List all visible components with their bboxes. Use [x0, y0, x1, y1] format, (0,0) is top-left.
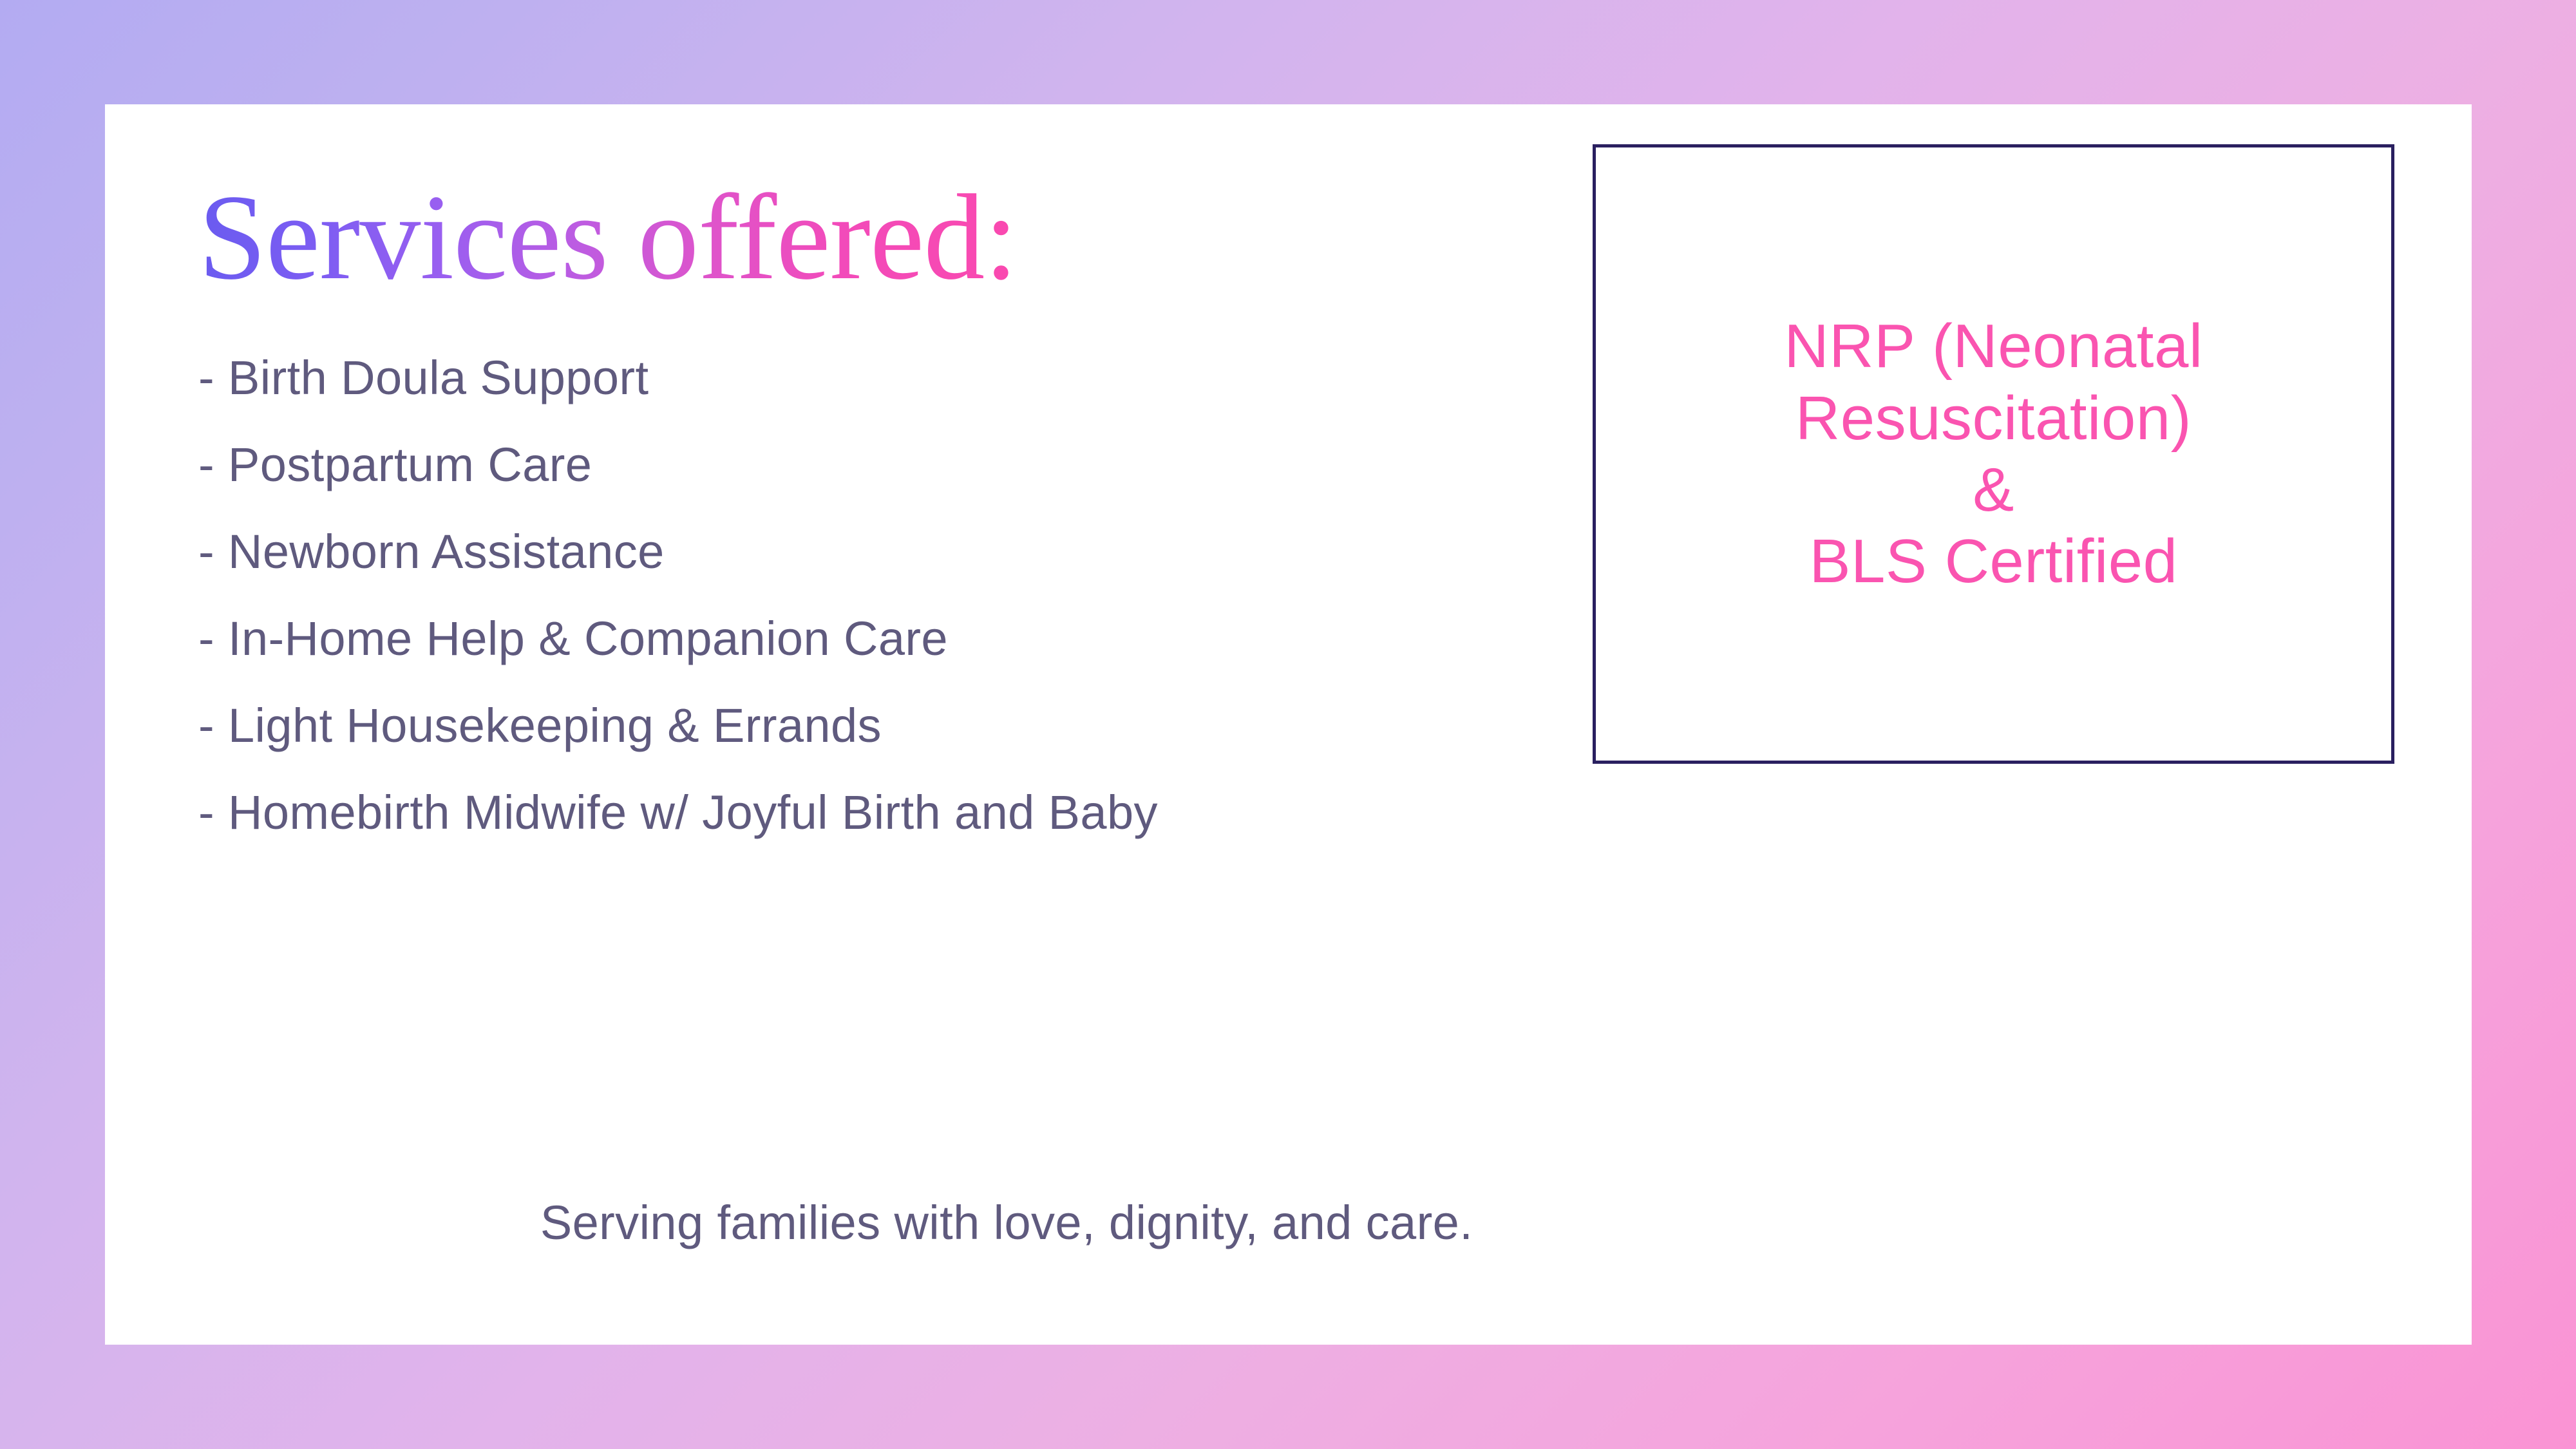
- list-item: - Newborn Assistance: [198, 528, 1158, 576]
- list-item: - In-Home Help & Companion Care: [198, 615, 1158, 663]
- list-item: - Homebirth Midwife w/ Joyful Birth and …: [198, 789, 1158, 837]
- list-item: - Light Housekeeping & Errands: [198, 702, 1158, 750]
- certification-line-bls: BLS Certified: [1809, 526, 2177, 597]
- certification-line-amp: &: [1973, 454, 2014, 526]
- services-list: - Birth Doula Support - Postpartum Care …: [198, 354, 1158, 876]
- tagline: Serving families with love, dignity, and…: [105, 1199, 1908, 1247]
- page-title: Services offered:: [198, 176, 1018, 299]
- slide-canvas: Services offered: - Birth Doula Support …: [0, 0, 2576, 1449]
- certification-line-nrp: NRP (Neonatal Resuscitation): [1633, 310, 2354, 454]
- list-item: - Postpartum Care: [198, 441, 1158, 489]
- certification-box: NRP (Neonatal Resuscitation) & BLS Certi…: [1593, 144, 2394, 764]
- list-item: - Birth Doula Support: [198, 354, 1158, 402]
- content-card: Services offered: - Birth Doula Support …: [105, 104, 2472, 1345]
